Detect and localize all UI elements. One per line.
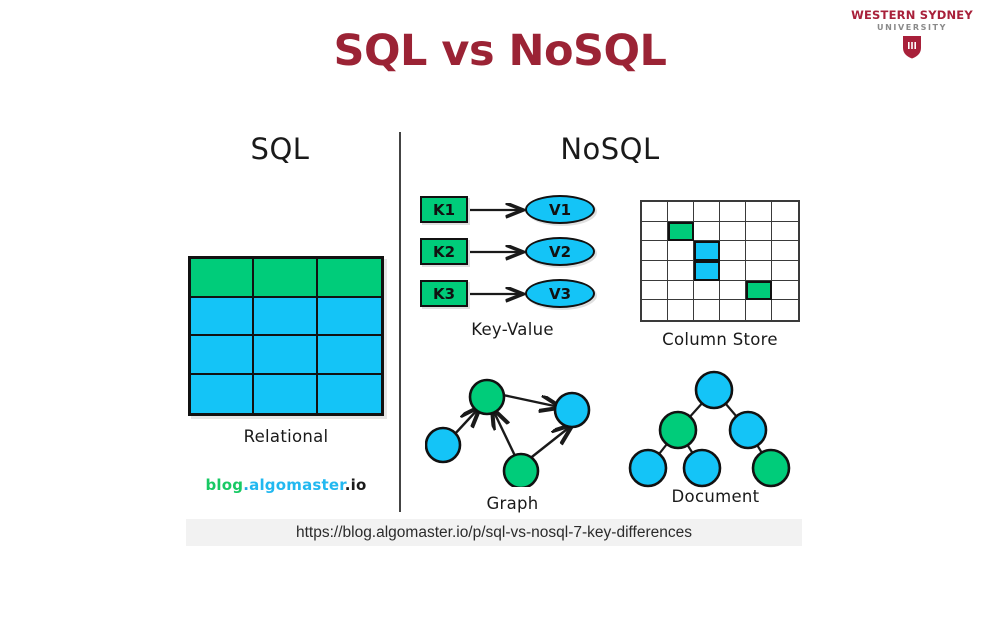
grid-cell xyxy=(694,222,720,242)
table-cell xyxy=(191,375,254,414)
grid-cell xyxy=(668,300,694,320)
caption-graph: Graph xyxy=(425,494,600,513)
table-cell xyxy=(254,336,317,375)
table-cell xyxy=(318,375,381,414)
grid-cell-highlight xyxy=(694,241,720,261)
grid-cell xyxy=(746,222,772,242)
relational-table-diagram xyxy=(188,256,384,416)
grid-cell xyxy=(772,222,798,242)
grid-cell xyxy=(720,202,746,222)
heading-nosql: NoSQL xyxy=(520,132,700,166)
logo-text-line2: UNIVERSITY xyxy=(842,23,982,32)
tree-node xyxy=(696,372,732,408)
key-value-arrows xyxy=(420,196,600,316)
key-value-diagram: K1 K2 K3 V1 V2 V3 xyxy=(420,196,600,316)
shield-crest-icon xyxy=(902,35,922,59)
grid-cell-highlight xyxy=(694,261,720,281)
table-cell xyxy=(191,336,254,375)
grid-cell xyxy=(642,241,668,261)
grid-cell xyxy=(642,202,668,222)
graph-svg xyxy=(425,372,600,487)
source-url-text: https://blog.algomaster.io/p/sql-vs-nosq… xyxy=(296,524,692,542)
grid-cell xyxy=(642,261,668,281)
grid-cell xyxy=(772,261,798,281)
tree-node xyxy=(684,450,720,486)
watermark-algomaster: algomaster xyxy=(249,476,345,494)
tree-node xyxy=(730,412,766,448)
document-svg xyxy=(628,370,803,488)
heading-sql: SQL xyxy=(200,132,360,166)
caption-document: Document xyxy=(628,487,803,506)
table-cell xyxy=(191,259,254,298)
table-cell xyxy=(191,298,254,337)
grid-cell xyxy=(694,281,720,301)
source-url-bar: https://blog.algomaster.io/p/sql-vs-nosq… xyxy=(186,519,802,546)
graph-node xyxy=(426,428,460,462)
grid-cell xyxy=(746,300,772,320)
grid-cell xyxy=(720,222,746,242)
grid-cell-highlight xyxy=(746,281,772,301)
grid-cell xyxy=(720,241,746,261)
caption-relational: Relational xyxy=(188,427,384,446)
graph-node xyxy=(555,393,589,427)
tree-node xyxy=(753,450,789,486)
blog-watermark: blog.algomaster.io xyxy=(188,476,384,494)
watermark-blog: blog xyxy=(206,476,244,494)
caption-column-store: Column Store xyxy=(640,330,800,349)
table-cell xyxy=(318,298,381,337)
grid-cell xyxy=(642,300,668,320)
grid-cell xyxy=(694,300,720,320)
grid-cell xyxy=(772,281,798,301)
grid-cell xyxy=(668,202,694,222)
tree-node xyxy=(660,412,696,448)
grid-cell xyxy=(720,300,746,320)
column-store-diagram xyxy=(640,200,800,322)
table-cell xyxy=(254,375,317,414)
grid-cell xyxy=(772,241,798,261)
grid-cell xyxy=(668,281,694,301)
graph-diagram xyxy=(425,372,600,487)
grid-cell xyxy=(668,241,694,261)
grid-cell xyxy=(772,300,798,320)
grid-cell xyxy=(720,281,746,301)
document-diagram xyxy=(628,370,803,488)
table-cell xyxy=(254,259,317,298)
tree-node xyxy=(630,450,666,486)
graph-node xyxy=(504,454,538,487)
watermark-io: io xyxy=(351,476,367,494)
western-sydney-university-logo: WESTERN SYDNEY UNIVERSITY xyxy=(842,8,982,63)
graph-node xyxy=(470,380,504,414)
table-cell xyxy=(318,336,381,375)
section-divider xyxy=(399,132,401,512)
table-cell xyxy=(254,298,317,337)
grid-cell xyxy=(746,202,772,222)
grid-cell xyxy=(694,202,720,222)
table-cell xyxy=(318,259,381,298)
logo-text-line1: WESTERN SYDNEY xyxy=(842,8,982,22)
grid-cell xyxy=(746,261,772,281)
caption-key-value: Key-Value xyxy=(425,320,600,339)
grid-cell xyxy=(642,222,668,242)
grid-cell xyxy=(746,241,772,261)
grid-cell-highlight xyxy=(668,222,694,242)
grid-cell xyxy=(720,261,746,281)
grid-cell xyxy=(642,281,668,301)
grid-cell xyxy=(772,202,798,222)
grid-cell xyxy=(668,261,694,281)
